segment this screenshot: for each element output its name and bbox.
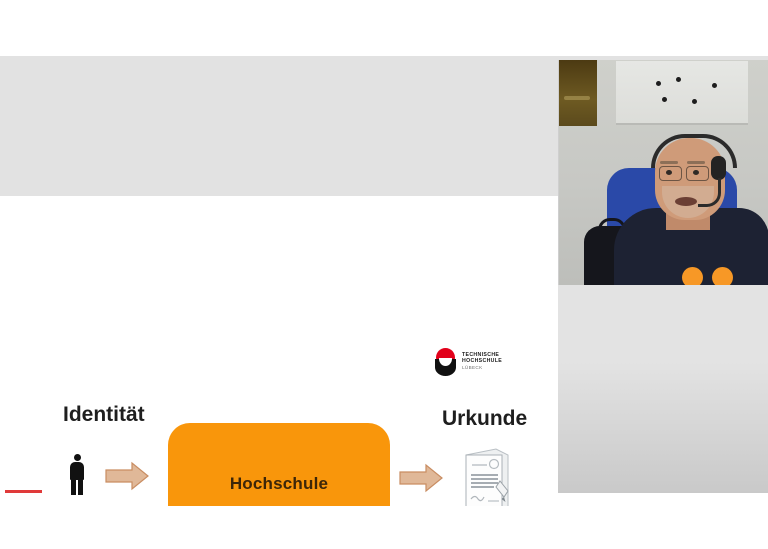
playback-progress-track[interactable] (0, 489, 768, 494)
presentation-slide: TECHNISCHE HOCHSCHULE LÜBECK Identität U… (0, 196, 558, 506)
th-luebeck-logo-mark (434, 348, 457, 376)
shirt-accent-dot-right (712, 267, 733, 285)
board-pin (656, 81, 661, 86)
video-wall-board (616, 61, 748, 125)
board-pin (692, 99, 697, 104)
person-head-icon (74, 454, 81, 461)
certificate-document-icon (460, 447, 514, 506)
video-speaker-eye-left (666, 170, 672, 175)
video-speaker-eye-right (693, 170, 699, 175)
th-luebeck-logo: TECHNISCHE HOCHSCHULE LÜBECK (434, 346, 522, 378)
video-speaker-mouth (675, 197, 697, 206)
flow-arrow-left-icon (105, 461, 149, 491)
speaker-video-tile[interactable] (558, 60, 768, 285)
shirt-accent-dot-left (682, 267, 703, 285)
board-pin (676, 77, 681, 82)
app-screen: TECHNISCHE HOCHSCHULE LÜBECK Identität U… (0, 0, 768, 549)
headset-earcup-icon (711, 156, 726, 180)
logo-wordmark: TECHNISCHE HOCHSCHULE LÜBECK (462, 353, 502, 370)
diagram-label-left: Identität (63, 403, 145, 427)
logo-black-bowl-icon (435, 359, 456, 376)
playback-progress-fill (5, 490, 42, 493)
board-pin (662, 97, 667, 102)
board-pin (712, 83, 717, 88)
logo-line-3: LÜBECK (462, 365, 502, 370)
diagram-label-right: Urkunde (442, 407, 527, 431)
video-wall-poster (559, 60, 597, 126)
